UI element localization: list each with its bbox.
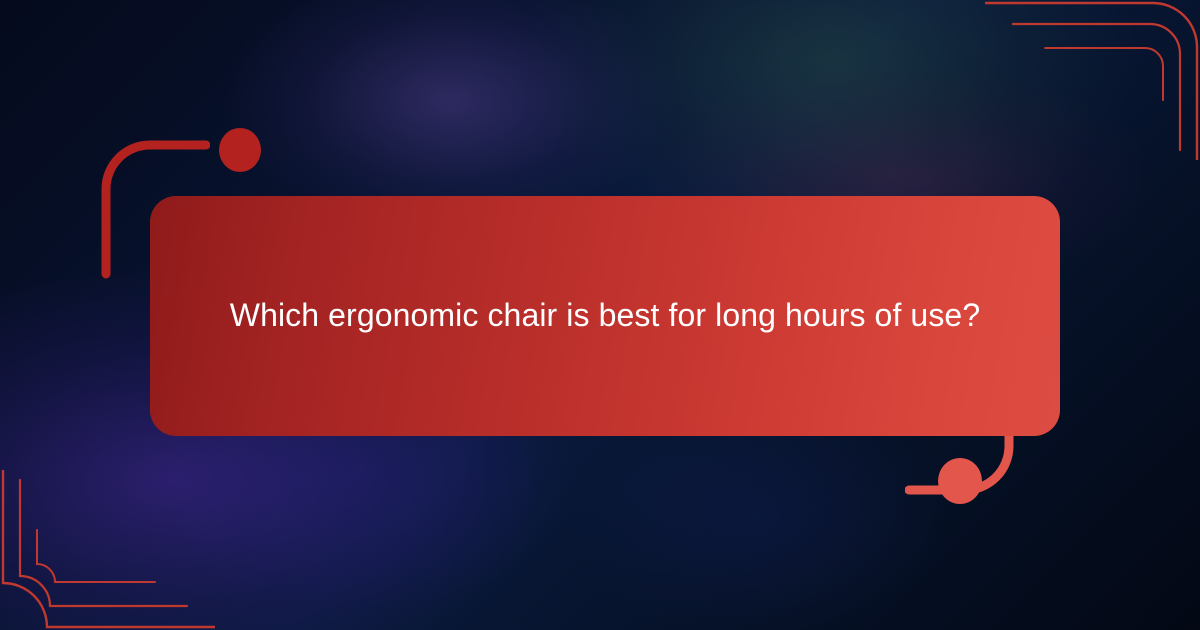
question-text: Which ergonomic chair is best for long h… xyxy=(230,293,980,338)
poster-canvas: Which ergonomic chair is best for long h… xyxy=(0,0,1200,630)
corner-lines-bottom-left xyxy=(0,470,215,630)
question-card: Which ergonomic chair is best for long h… xyxy=(150,196,1060,436)
accent-dot-bottom-right xyxy=(938,458,982,504)
accent-dot-top-left xyxy=(219,128,261,172)
corner-lines-top-right xyxy=(985,0,1200,160)
